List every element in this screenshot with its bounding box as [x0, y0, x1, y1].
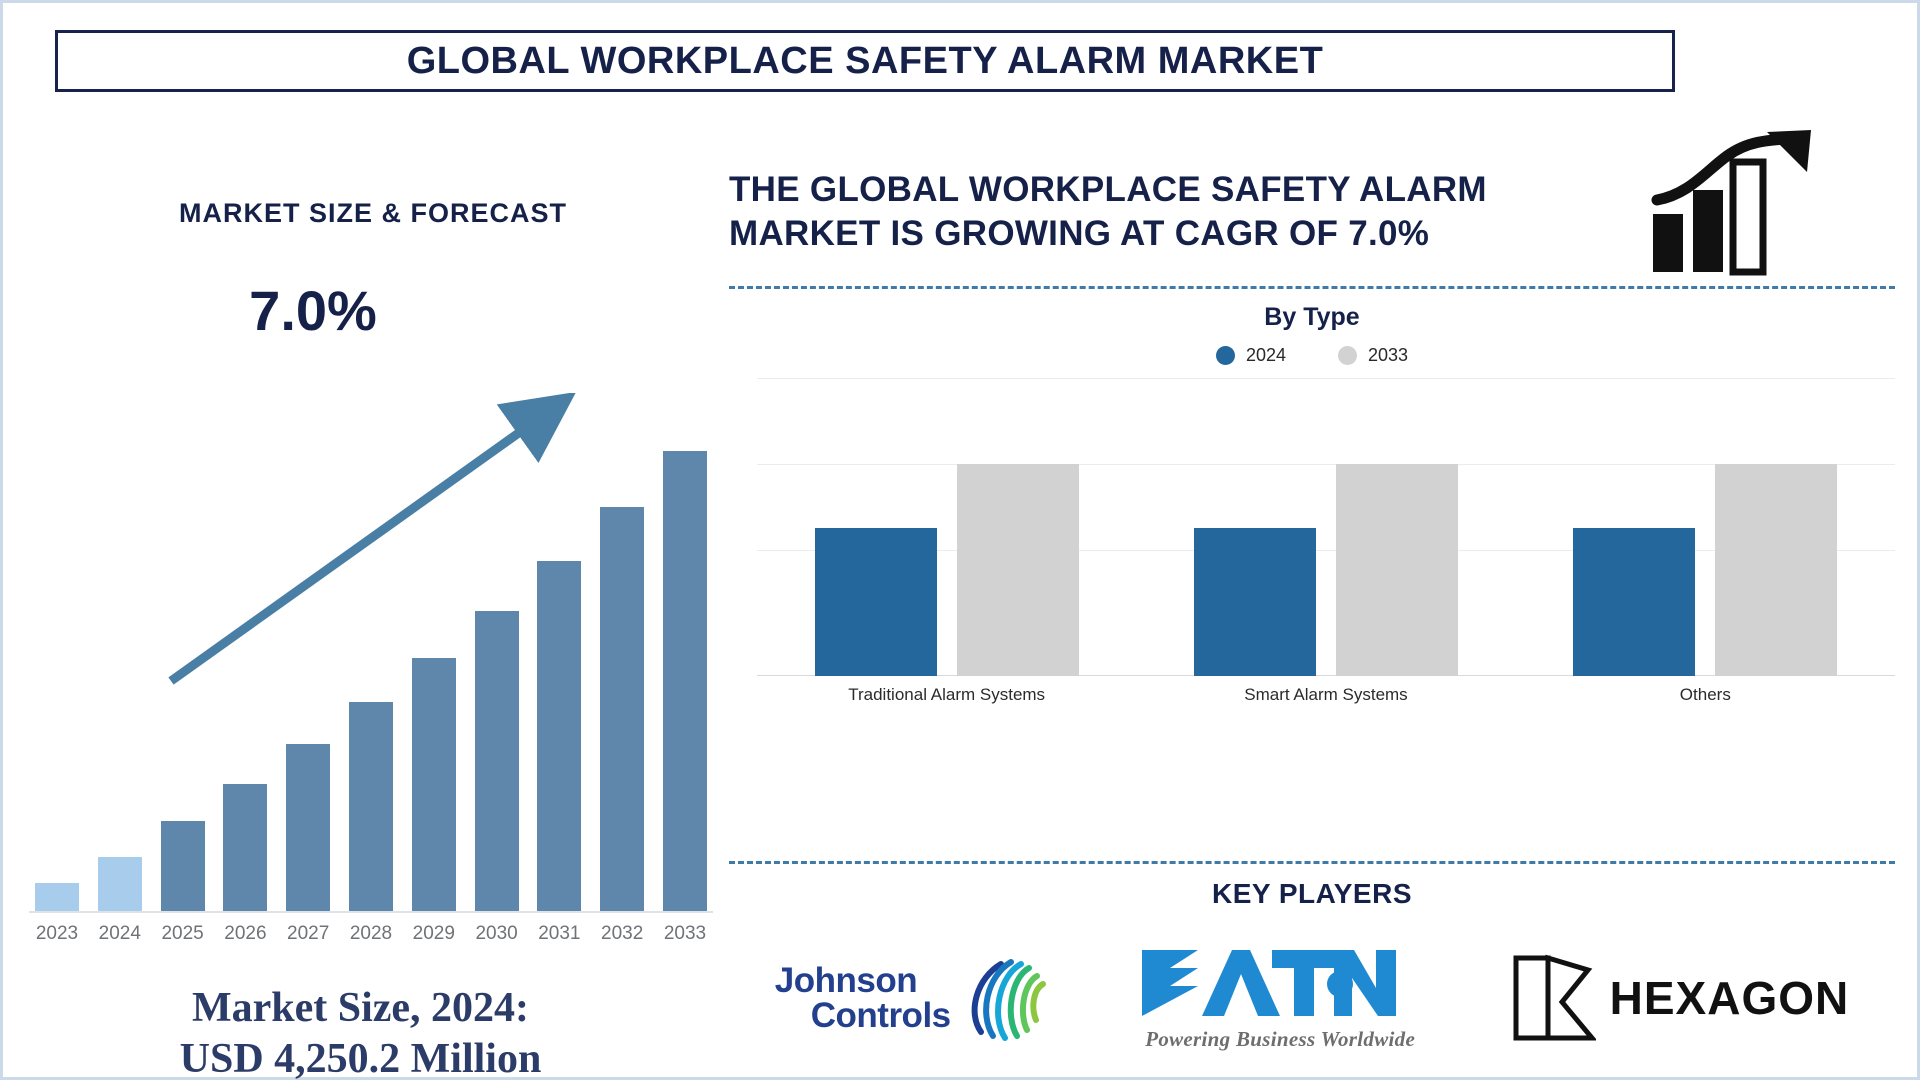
page-title-box: GLOBAL WORKPLACE SAFETY ALARM MARKET: [55, 30, 1675, 92]
eaton-tagline: Powering Business Worldwide: [1145, 1027, 1415, 1052]
forecast-year-label: 2023: [35, 923, 79, 945]
by-type-category-label: Traditional Alarm Systems: [807, 685, 1087, 705]
by-type-bar: [957, 464, 1079, 676]
market-size-line-2: USD 4,250.2 Million: [3, 1034, 718, 1085]
hexagon-wordmark: HEXAGON: [1610, 971, 1850, 1025]
legend-item: 2033: [1338, 345, 1408, 366]
forecast-bar-column: [412, 411, 456, 911]
forecast-year-label: 2029: [412, 923, 456, 945]
legend-color-dot: [1216, 346, 1235, 365]
forecast-bar: [600, 507, 644, 911]
by-type-bar: [815, 528, 937, 676]
market-size-forecast-label: MARKET SIZE & FORECAST: [3, 198, 743, 229]
johnson-controls-line-2: Controls: [775, 998, 951, 1033]
divider-top: [729, 286, 1895, 289]
by-type-category-label: Others: [1565, 685, 1845, 705]
by-type-bar-chart: [757, 378, 1895, 676]
market-forecast-bar-chart: 2023202420252026202720282029203020312032…: [21, 393, 721, 953]
key-players-logos: Johnson Controls: [729, 923, 1895, 1073]
forecast-bar: [161, 821, 205, 911]
right-panel: THE GLOBAL WORKPLACE SAFETY ALARM MARKET…: [729, 103, 1920, 1078]
forecast-year-label: 2025: [161, 923, 205, 945]
forecast-bar-column: [161, 411, 205, 911]
by-type-group: [815, 378, 1079, 676]
legend-label: 2024: [1246, 345, 1286, 366]
by-type-bar-groups: [757, 378, 1895, 676]
forecast-bar-column: [537, 411, 581, 911]
forecast-year-label: 2030: [475, 923, 519, 945]
forecast-year-label: 2026: [223, 923, 267, 945]
forecast-year-label: 2033: [663, 923, 707, 945]
by-type-category-label: Smart Alarm Systems: [1186, 685, 1466, 705]
forecast-bar: [537, 561, 581, 911]
chart-axis-line: [29, 911, 713, 913]
key-players-title: KEY PLAYERS: [729, 878, 1895, 910]
forecast-year-label: 2024: [98, 923, 142, 945]
cagr-value: 7.0%: [193, 278, 433, 343]
by-type-group: [1573, 378, 1837, 676]
growth-headline-line-1: THE GLOBAL WORKPLACE SAFETY ALARM: [729, 168, 1629, 212]
forecast-bar-column: [475, 411, 519, 911]
forecast-year-label: 2028: [349, 923, 393, 945]
left-panel: MARKET SIZE & FORECAST 7.0% 202320242025…: [3, 103, 743, 1063]
forecast-year-label: 2031: [537, 923, 581, 945]
forecast-bar-column: [286, 411, 330, 911]
by-type-bar: [1194, 528, 1316, 676]
forecast-bar: [412, 658, 456, 911]
eaton-wordmark-icon: [1140, 944, 1420, 1022]
forecast-year-label: 2032: [600, 923, 644, 945]
by-type-category-labels: Traditional Alarm SystemsSmart Alarm Sys…: [757, 685, 1895, 705]
growth-bar-arrow-icon: [1649, 128, 1839, 278]
by-type-bar: [1573, 528, 1695, 676]
infographic-page: GLOBAL WORKPLACE SAFETY ALARM MARKET MAR…: [0, 0, 1920, 1080]
hexagon-mark-icon: [1512, 954, 1596, 1042]
logo-eaton: Powering Business Worldwide: [1140, 944, 1420, 1052]
forecast-bar: [475, 611, 519, 911]
forecast-bar: [663, 451, 707, 911]
by-type-group: [1194, 378, 1458, 676]
forecast-bar: [223, 784, 267, 911]
forecast-bar: [35, 883, 79, 911]
logo-johnson-controls: Johnson Controls: [775, 952, 1049, 1044]
forecast-bar-column: [35, 411, 79, 911]
by-type-title: By Type: [729, 303, 1895, 332]
johnson-controls-globe-icon: [957, 952, 1049, 1044]
forecast-bar: [349, 702, 393, 911]
market-size-line-1: Market Size, 2024:: [3, 983, 718, 1034]
legend-item: 2024: [1216, 345, 1286, 366]
forecast-year-labels: 2023202420252026202720282029203020312032…: [35, 917, 707, 951]
page-title: GLOBAL WORKPLACE SAFETY ALARM MARKET: [407, 40, 1324, 83]
forecast-bars-group: [35, 411, 707, 911]
by-type-bar: [1715, 464, 1837, 676]
forecast-bar: [98, 857, 142, 911]
growth-headline-line-2: MARKET IS GROWING AT CAGR OF 7.0%: [729, 212, 1629, 256]
forecast-year-label: 2027: [286, 923, 330, 945]
forecast-bar-column: [600, 411, 644, 911]
logo-hexagon: HEXAGON: [1512, 954, 1850, 1042]
legend-color-dot: [1338, 346, 1357, 365]
divider-bottom: [729, 861, 1895, 864]
forecast-bar-column: [223, 411, 267, 911]
growth-headline: THE GLOBAL WORKPLACE SAFETY ALARM MARKET…: [729, 168, 1629, 257]
johnson-controls-line-1: Johnson: [775, 961, 917, 1000]
by-type-bar: [1336, 464, 1458, 676]
forecast-bar: [286, 744, 330, 911]
by-type-legend: 20242033: [729, 345, 1895, 366]
market-size-callout: Market Size, 2024: USD 4,250.2 Million: [3, 983, 718, 1085]
forecast-bar-column: [98, 411, 142, 911]
legend-label: 2033: [1368, 345, 1408, 366]
forecast-bar-column: [663, 411, 707, 911]
forecast-bar-column: [349, 411, 393, 911]
